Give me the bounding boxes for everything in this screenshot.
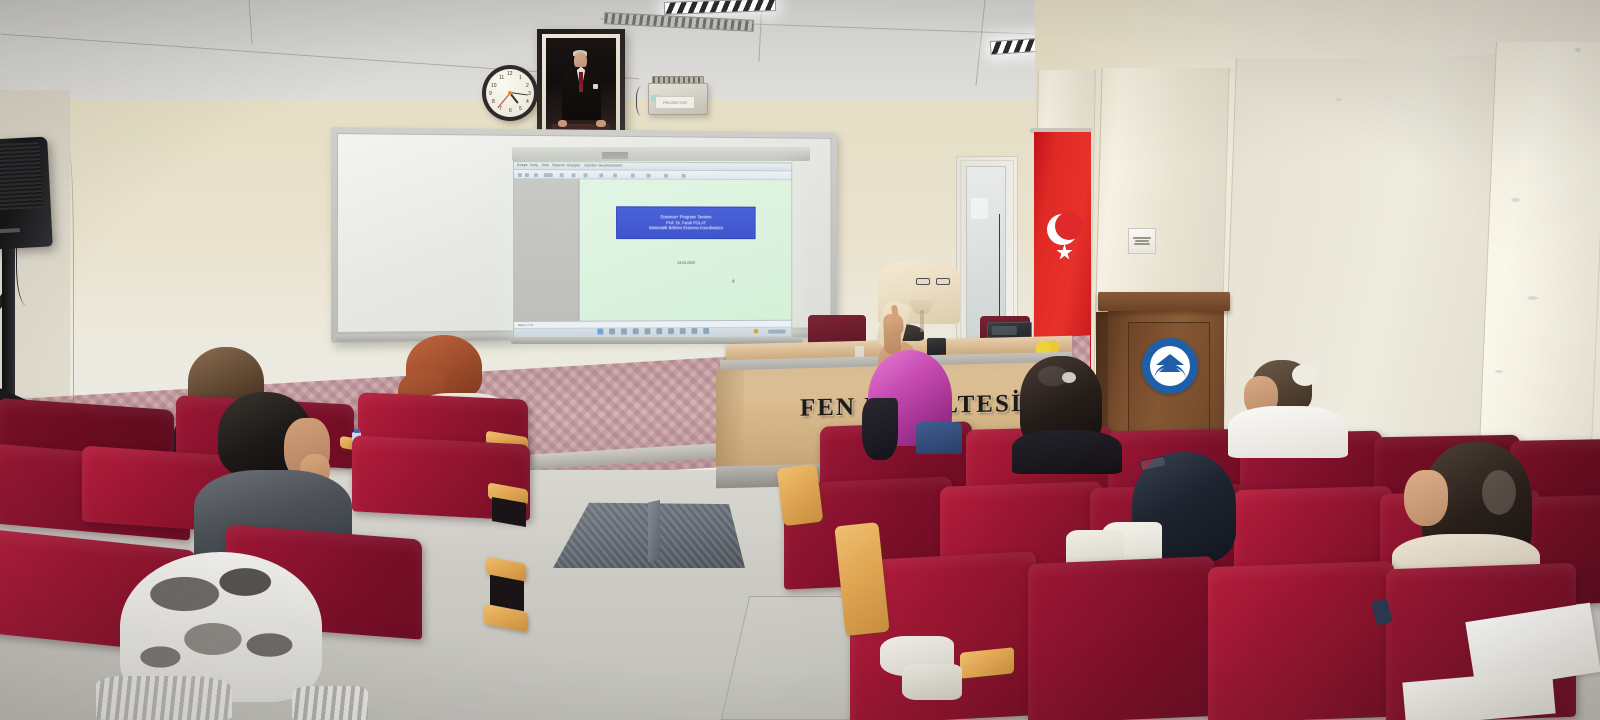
audience-member: [96, 552, 366, 720]
slide-date: 24.04.2025: [580, 261, 792, 265]
mouse-cursor: [733, 279, 735, 282]
projection-screen-housing: [512, 147, 810, 161]
audience-member: [1118, 452, 1244, 572]
slide-title-box: Erasmus+ Programı Tanıtımı Prof. Dr. Far…: [616, 206, 756, 239]
lecture-hall-photo: 12 1 2 3 4 5 6 7 8 9 10 11: [0, 0, 1600, 720]
menu-item[interactable]: Dosya: [517, 163, 528, 167]
slide-canvas: Erasmus+ Programı Tanıtımı Prof. Dr. Far…: [580, 179, 792, 320]
pa-speaker: [0, 137, 53, 250]
menu-item[interactable]: Gözden Geçir: [584, 163, 607, 167]
university-logo: [1142, 338, 1198, 394]
menu-item[interactable]: Geçişler: [567, 163, 581, 167]
audience-member: [1236, 358, 1348, 454]
windows-taskbar[interactable]: Slayt 1 / 14: [514, 320, 791, 338]
seat-armrest: [777, 464, 824, 526]
podium-top: [1098, 292, 1230, 311]
raised-hand: [885, 314, 904, 337]
ceiling-vent: [604, 12, 754, 32]
slide-counter: Slayt 1 / 14: [518, 323, 533, 327]
slide-thumbnail-pane[interactable]: [514, 179, 580, 321]
eyeglasses: [916, 278, 951, 285]
wall-clock: 12 1 2 3 4 5 6 7 8 9 10 11: [482, 65, 538, 121]
audience-legs: [902, 664, 962, 700]
projected-slide: Dosya Giriş Ekle Tasarım Geçişler Gözden…: [513, 161, 792, 339]
auditorium-seat[interactable]: [1208, 561, 1394, 720]
projection-screen-pull-tab[interactable]: [602, 152, 628, 159]
audience-member: [862, 350, 972, 458]
slide-title-line: Matematik Bölümü Erasmus Koordinatörü: [649, 225, 723, 231]
presenter: [878, 262, 988, 362]
powerpoint-statusbar: Slayt 1 / 14: [514, 321, 791, 329]
speaker-cable: [16, 240, 34, 306]
menu-item[interactable]: Giriş: [530, 163, 538, 167]
ceiling-light-fixture: [664, 0, 776, 15]
audience-member: [1010, 356, 1120, 456]
menu-item[interactable]: Görünüm: [607, 164, 622, 168]
wall-cable: [62, 152, 74, 437]
projector-label: PROJEKTOR: [655, 96, 695, 109]
auditorium-seat[interactable]: [1028, 556, 1214, 720]
menu-item[interactable]: Ekle: [542, 163, 549, 167]
menu-item[interactable]: Tasarım: [552, 163, 565, 167]
wall-plaque: [1128, 228, 1156, 254]
ramp-side-lip: [648, 500, 660, 562]
audience-member: [1398, 442, 1548, 582]
